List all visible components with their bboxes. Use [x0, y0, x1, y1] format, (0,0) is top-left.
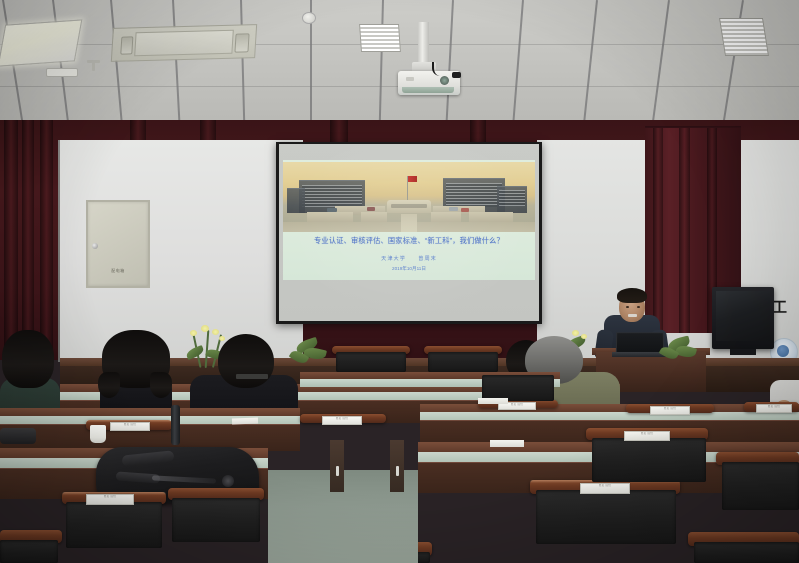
backpack-strap: [122, 450, 175, 466]
cabinet-label: 配电箱: [88, 268, 148, 274]
speaker-eye: [637, 306, 640, 308]
flag-icon: [408, 176, 417, 182]
cabinet-lock-icon[interactable]: [92, 243, 98, 249]
seat-back[interactable]: [694, 542, 799, 563]
curtain-fold: [40, 120, 53, 360]
ac-vent-icon: [111, 24, 257, 62]
slide-affiliation: 天津大学 曾周末: [287, 255, 531, 262]
flower-icon: [219, 336, 225, 341]
speaker-hair: [617, 288, 647, 303]
seat-back[interactable]: [0, 540, 58, 563]
gate-caption: [391, 204, 427, 208]
seat-placard: 姓名 席位: [86, 494, 134, 505]
speaker-mouth: [628, 314, 637, 317]
slide-date: 2019年10月11日: [287, 266, 531, 272]
paper-sheet: [232, 418, 258, 425]
ceiling-light-panel: [0, 19, 82, 66]
projector-connector: [452, 72, 461, 78]
placard-text: 姓名 席位: [625, 432, 669, 436]
audience-person-hair: [2, 330, 54, 388]
seat-placard: 姓名 席位: [650, 406, 690, 415]
speaker-eye: [626, 306, 629, 308]
audience-person-hair: [218, 334, 274, 388]
display-stand: [730, 349, 756, 355]
presentation-slide: 专业认证、审核评估、国家标准、“新工科”，我们做什么？ 天津大学 曾周末 201…: [283, 160, 535, 280]
ceiling-light-grille: [359, 24, 401, 52]
aisle-handle-icon: [396, 466, 399, 476]
curtain-fold: [22, 120, 34, 360]
seat-placard: 姓名 席位: [580, 483, 630, 494]
seat-back[interactable]: [428, 352, 498, 372]
ceiling-vent-strip: [46, 68, 78, 77]
placard-text: 姓名 席位: [87, 495, 133, 499]
camera-bag[interactable]: [0, 428, 36, 444]
sprinkler-icon: [87, 60, 100, 63]
seat-placard: 姓名 席位: [624, 431, 670, 441]
seat-back[interactable]: [592, 438, 706, 482]
aisle-handle-icon: [336, 466, 339, 476]
curtain-fold: [4, 120, 18, 360]
audience-person-hair: [98, 372, 120, 398]
placard-text: 姓名 席位: [651, 407, 689, 411]
placard-text: 姓名 席位: [111, 423, 149, 427]
slide-title: 专业认证、审核评估、国家标准、“新工科”，我们做什么？: [287, 236, 531, 246]
seat-back[interactable]: [172, 498, 260, 542]
curtain-fold: [330, 120, 348, 144]
placard-text: 姓名 席位: [757, 405, 791, 409]
seat-back[interactable]: [722, 462, 799, 510]
flower-icon: [212, 329, 219, 335]
curtain-fold: [470, 120, 486, 144]
flower-icon: [581, 334, 587, 339]
projector-mount-pole: [418, 22, 429, 64]
water-bottle[interactable]: [171, 405, 180, 445]
placard-text: 姓名 席位: [581, 484, 629, 488]
seat-back[interactable]: [536, 490, 676, 544]
notebook: [236, 374, 268, 379]
display-screen: [716, 291, 770, 341]
slide-photo: [283, 162, 535, 232]
smoke-detector-icon: [302, 12, 316, 24]
seat-placard: 姓名 席位: [756, 404, 792, 413]
placard-text: 姓名 席位: [323, 417, 361, 421]
wall-emblem-center-icon: [777, 345, 789, 357]
flower-icon: [201, 325, 209, 332]
ceiling-light-grille: [719, 18, 769, 56]
backpack-zipper: [152, 475, 216, 483]
paper-sheet: [490, 440, 524, 447]
seat-back[interactable]: [336, 352, 406, 372]
utility-cabinet[interactable]: 配电箱: [86, 200, 150, 288]
audience-person-hair: [150, 372, 172, 398]
projector-lens-icon: [440, 76, 449, 85]
paper-sheet: [478, 398, 508, 404]
flower-icon: [572, 330, 579, 336]
flower-icon: [190, 330, 197, 336]
seat-placard: 姓名 席位: [110, 422, 150, 431]
seat-placard: 姓名 席位: [322, 416, 362, 425]
paper-cup[interactable]: [90, 425, 106, 443]
backpack-buckle-icon: [222, 475, 234, 487]
aisle-step: [266, 512, 422, 518]
laptop-base[interactable]: [612, 352, 666, 357]
seat-back[interactable]: [66, 502, 162, 548]
lecture-hall-photo: 配电箱 机械工 School of Me: [0, 0, 799, 563]
